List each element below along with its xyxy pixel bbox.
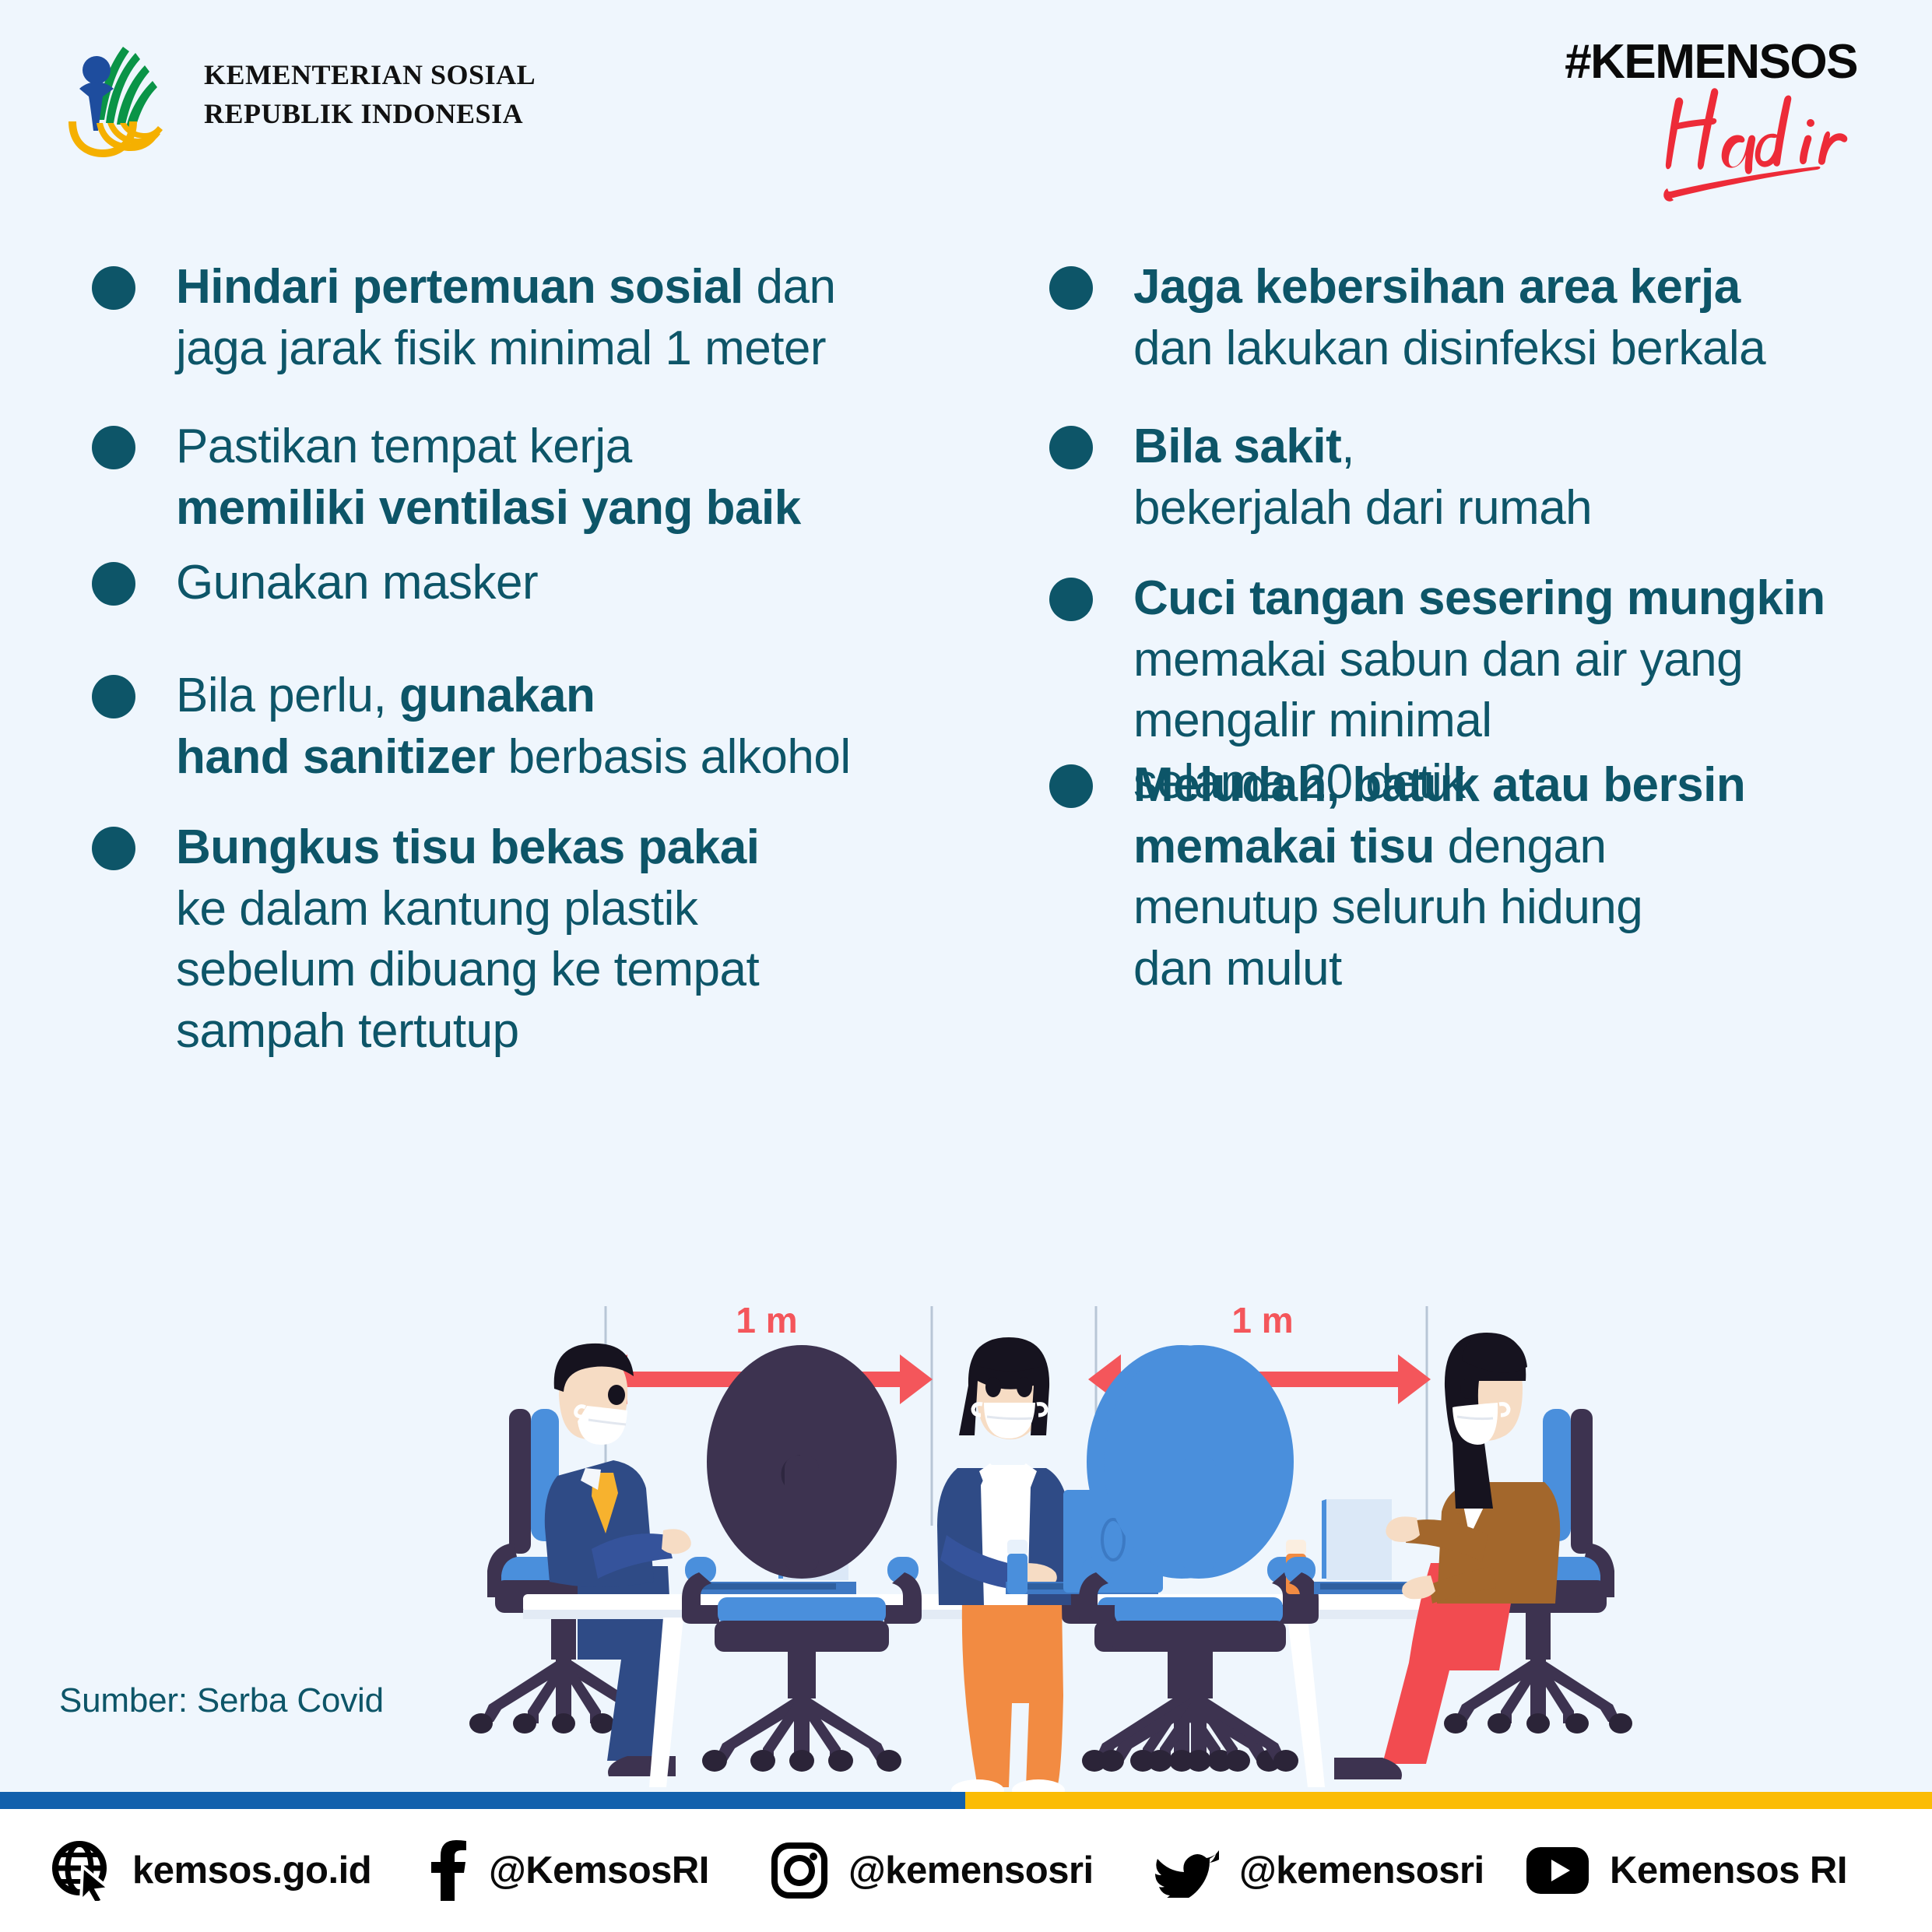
ministry-brand: KEMENTERIAN SOSIAL REPUBLIK INDONESIA [48,33,536,157]
bullet-dot-icon [1049,578,1093,621]
footer-link-twitter[interactable]: @kemensosri [1154,1843,1484,1898]
tip-text: Pastikan tempat kerjamemiliki ventilasi … [176,416,801,539]
chair-empty-dark [682,1345,922,1772]
youtube-icon [1526,1846,1590,1895]
footer-link-youtube[interactable]: Kemensos RI [1526,1846,1847,1895]
bullet-dot-icon [92,827,135,870]
tip-text: Meludah, batuk atau bersinmemakai tisu d… [1133,755,1745,1000]
tip-item-gunakan-masker: Gunakan masker [92,553,538,614]
bullet-dot-icon [1049,764,1093,808]
youtube-label: Kemensos RI [1610,1849,1847,1892]
distance-label-right: 1 m [1231,1300,1293,1340]
kemensos-padi-kapas-logo-icon [48,33,173,157]
distance-label-left: 1 m [736,1300,797,1340]
tips-columns: Hindari pertemuan sosial danjaga jarak f… [0,257,1932,1300]
tip-item-hand-sanitizer: Bila perlu, gunakanhand sanitizer berbas… [92,666,851,788]
source-label: Sumber: Serba Covid [59,1681,384,1720]
footer-divider [0,1792,1932,1809]
divider-yellow-segment [965,1792,1932,1809]
footer-link-facebook[interactable]: @KemsosRI [427,1840,709,1901]
tip-item-meludah-batuk-bersin: Meludah, batuk atau bersinmemakai tisu d… [1049,755,1745,1000]
tip-text: Bila sakit,bekerjalah dari rumah [1133,416,1592,539]
infographic-poster: KEMENTERIAN SOSIAL REPUBLIK INDONESIA #K… [0,0,1932,1932]
twitter-label: @kemensosri [1239,1849,1484,1892]
bullet-dot-icon [1049,426,1093,469]
tip-item-ventilasi-baik: Pastikan tempat kerjamemiliki ventilasi … [92,416,801,539]
bullet-dot-icon [92,675,135,718]
tip-item-jaga-kebersihan: Jaga kebersihan area kerjadan lakukan di… [1049,257,1765,379]
kemensos-hadir-lockup: #KEMENSOS [1515,23,1857,179]
tip-text: Gunakan masker [176,553,538,614]
bullet-dot-icon [92,266,135,310]
hadir-script-icon [1537,75,1864,207]
footer-link-instagram[interactable]: @kemensosri [771,1842,1094,1899]
bullet-dot-icon [92,426,135,469]
facebook-label: @KemsosRI [489,1849,709,1892]
tip-text: Jaga kebersihan area kerjadan lakukan di… [1133,257,1765,379]
tip-item-hindari-pertemuan-sosial: Hindari pertemuan sosial danjaga jarak f… [92,257,835,379]
sanitizer-bottle-blue [1007,1540,1027,1594]
tip-item-bila-sakit: Bila sakit,bekerjalah dari rumah [1049,416,1592,539]
twitter-icon [1154,1843,1219,1898]
tip-text: Bila perlu, gunakanhand sanitizer berbas… [176,666,851,788]
ministry-name: KEMENTERIAN SOSIAL REPUBLIK INDONESIA [204,56,536,133]
footer: kemsos.go.id @KemsosRI @kemensosri @keme… [0,1809,1932,1932]
tip-text: Hindari pertemuan sosial danjaga jarak f… [176,257,835,379]
website-label: kemsos.go.id [132,1849,371,1892]
instagram-label: @kemensosri [848,1849,1094,1892]
header: KEMENTERIAN SOSIAL REPUBLIK INDONESIA #K… [0,0,1932,226]
tip-item-bungkus-tisu: Bungkus tisu bekas pakaike dalam kantung… [92,817,759,1063]
divider-blue-segment [0,1792,965,1809]
bullet-dot-icon [1049,266,1093,310]
office-distancing-illustration: 1 m 1 m [0,1292,1932,1806]
facebook-icon [427,1840,469,1901]
footer-link-website[interactable]: kemsos.go.id [51,1840,371,1901]
bullet-dot-icon [92,562,135,606]
tip-text: Bungkus tisu bekas pakaike dalam kantung… [176,817,759,1063]
globe-cursor-icon [51,1840,112,1901]
instagram-icon [771,1842,828,1899]
